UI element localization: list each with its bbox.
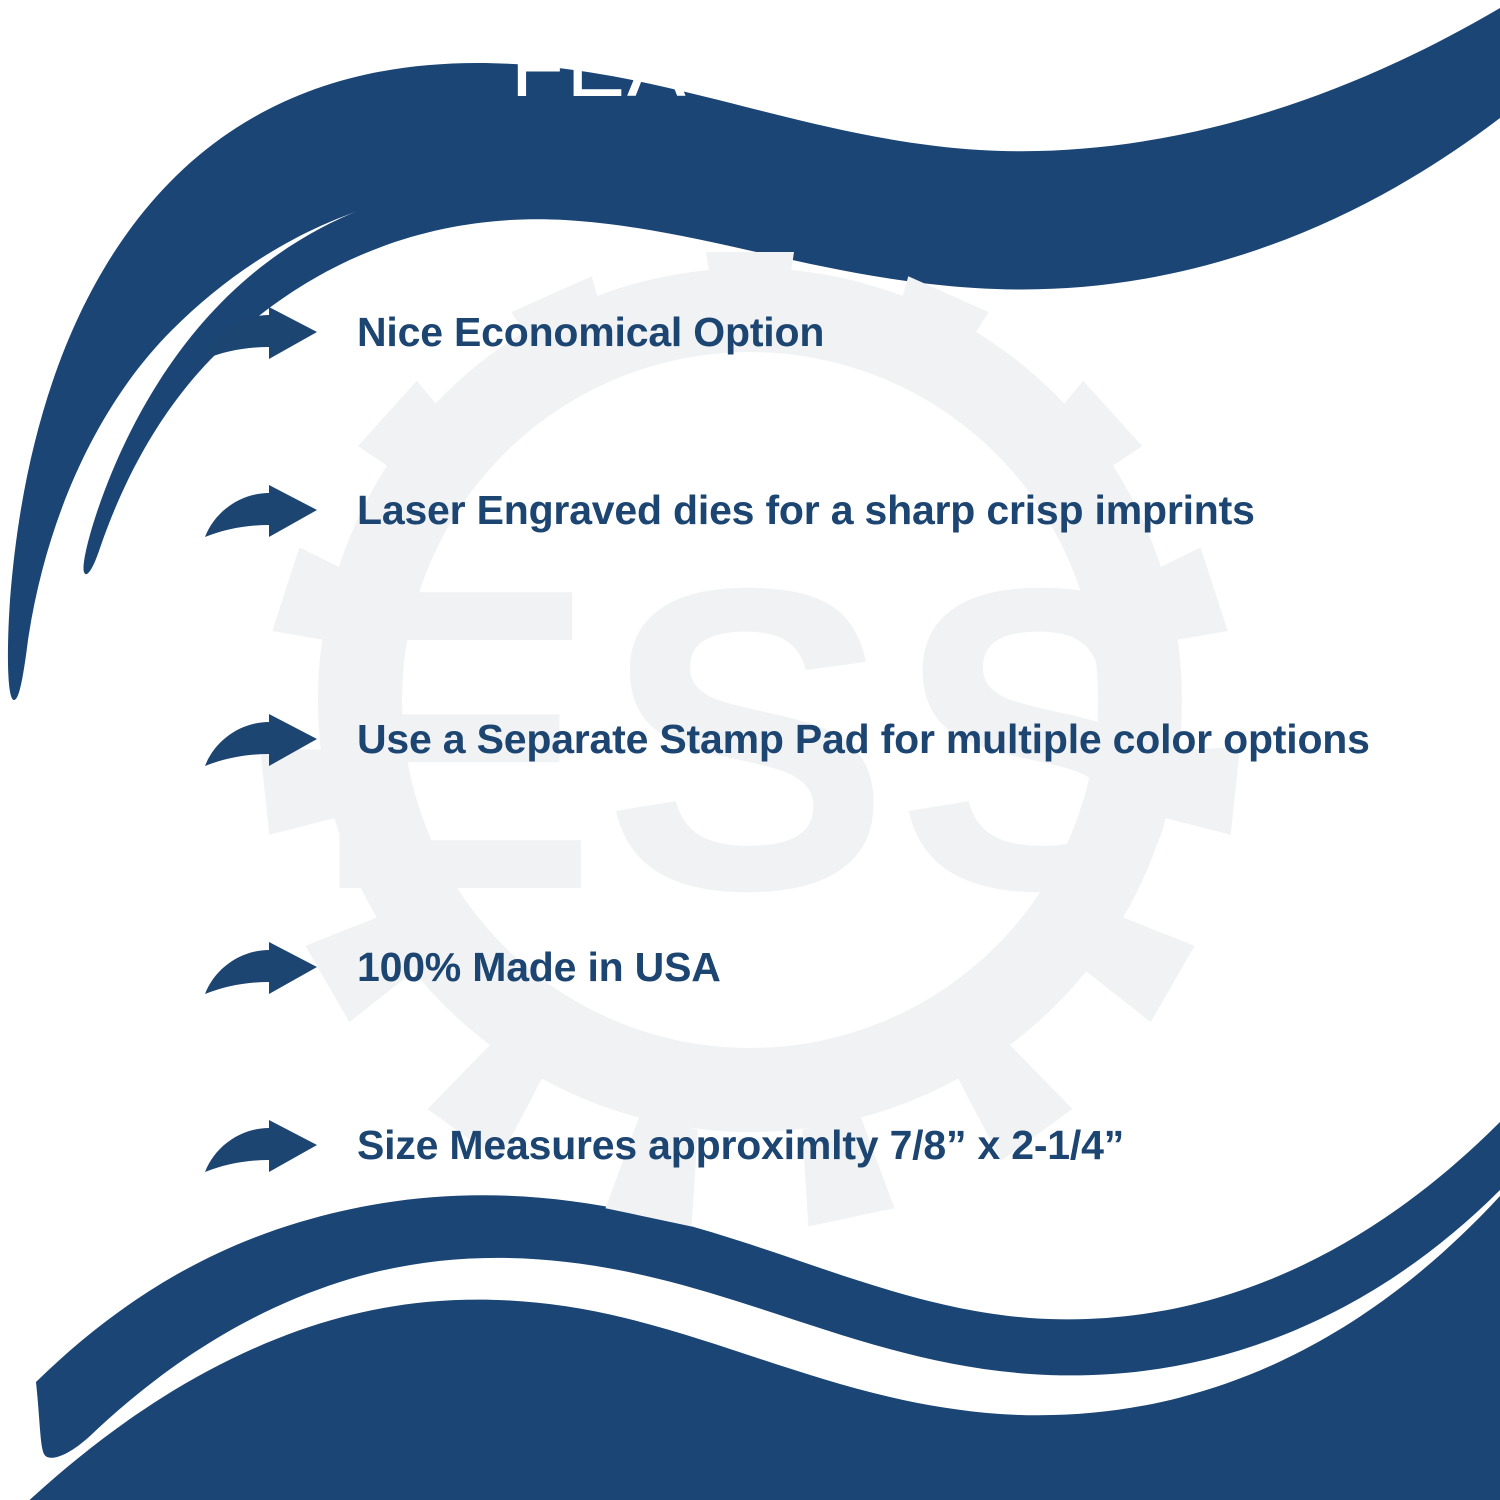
list-item: 100% Made in USA	[205, 940, 1445, 1002]
features-list: Nice Economical Option Laser Engraved di…	[0, 0, 1500, 1500]
curved-arrow-right-icon	[205, 485, 317, 545]
feature-text: Nice Economical Option	[357, 305, 824, 359]
page-title: FEATURES	[0, 18, 1500, 115]
curved-arrow-right-icon	[205, 307, 317, 367]
feature-text: Size Measures approximlty 7/8” x 2-1/4”	[357, 1118, 1124, 1172]
curved-arrow-right-icon	[205, 942, 317, 1002]
list-item: Size Measures approximlty 7/8” x 2-1/4”	[205, 1118, 1445, 1180]
curved-arrow-right-icon	[205, 1120, 317, 1180]
curved-arrow-right-icon	[205, 714, 317, 774]
feature-text: Use a Separate Stamp Pad for multiple co…	[357, 712, 1370, 766]
features-infographic: ESS FEATURES Nice Economical Option Lase…	[0, 0, 1500, 1500]
list-item: Use a Separate Stamp Pad for multiple co…	[205, 712, 1445, 774]
list-item: Nice Economical Option	[205, 305, 1445, 367]
feature-text: 100% Made in USA	[357, 940, 721, 994]
list-item: Laser Engraved dies for a sharp crisp im…	[205, 483, 1445, 545]
feature-text: Laser Engraved dies for a sharp crisp im…	[357, 483, 1255, 537]
